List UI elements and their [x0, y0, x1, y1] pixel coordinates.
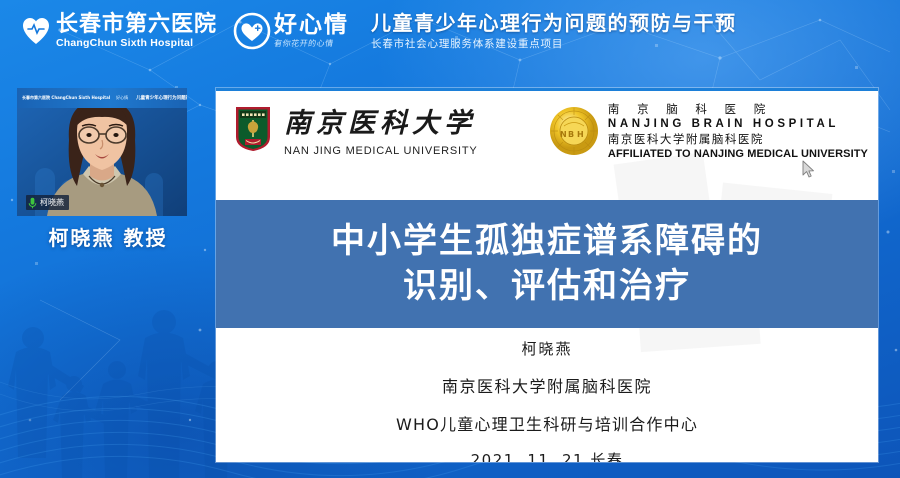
heart-apple-cross-icon	[233, 12, 271, 50]
svg-text:H: H	[577, 130, 584, 139]
nbh-line1: 南 京 脑 科 医 院	[608, 101, 868, 117]
svg-text:N: N	[560, 130, 567, 139]
credit-date-place: 2021. 11. 21 长春	[471, 449, 624, 462]
njmu-name-cn: 南京医科大学	[284, 101, 478, 140]
presentation-slide[interactable]: 南京医科大学 NAN JING MEDICAL UNIVERSITY	[216, 88, 878, 462]
mic-name-badge: 柯晓燕	[26, 195, 69, 210]
video-overlay-logo1: 长春市第六医院 ChangChun Sixth Hospital	[22, 95, 110, 101]
header-title-block: 儿童青少年心理行为问题的预防与干预 长春市社会心理服务体系建设重点项目	[371, 13, 737, 50]
changchun-hospital-name-cn: 长春市第六医院	[56, 14, 217, 36]
credit-presenter: 柯晓燕	[521, 338, 572, 359]
nbh-line4: AFFILIATED TO NANJING MEDICAL UNIVERSITY	[608, 148, 868, 160]
slide-credits: 柯晓燕 南京医科大学附属脑科医院 WHO儿童心理卫生科研与培训合作中心 2021…	[216, 338, 878, 462]
brain-hospital-seal-icon: NBH	[549, 106, 599, 156]
slide-title-band: 中小学生孤独症谱系障碍的 识别、评估和治疗	[216, 200, 878, 328]
mouse-pointer-icon	[802, 160, 815, 178]
nbh-line2: NANJING BRAIN HOSPITAL	[608, 118, 868, 130]
header-subtitle: 长春市社会心理服务体系建设重点项目	[371, 39, 737, 50]
header-title: 儿童青少年心理行为问题的预防与干预	[371, 13, 737, 33]
speaker-panel: 长春市第六医院 ChangChun Sixth Hospital 好心情 儿童青…	[0, 62, 216, 478]
speaker-name-label: 柯晓燕 教授	[0, 222, 216, 251]
credit-center: WHO儿童心理卫生科研与培训合作中心	[396, 411, 698, 435]
credit-affiliation: 南京医科大学附属脑科医院	[442, 373, 652, 397]
nbh-line3: 南京医科大学附属脑科医院	[608, 131, 868, 147]
speaker-video-feed[interactable]: 长春市第六医院 ChangChun Sixth Hospital 好心情 儿童青…	[17, 88, 187, 216]
haoxinqing-logo: 好心情 有你花开的心情	[233, 12, 349, 50]
mic-badge-name: 柯晓燕	[40, 197, 64, 208]
heart-pulse-icon	[22, 16, 50, 46]
microphone-icon	[28, 197, 37, 209]
nbh-logo: NBH 南 京 脑 科 医 院 NANJING BRAIN HOSPITAL 南…	[549, 101, 868, 160]
haoxinqing-slogan: 有你花开的心情	[273, 40, 349, 48]
slide-title-line1: 中小学生孤独症谱系障碍的	[331, 219, 763, 264]
slide-title-line2: 识别、评估和治疗	[403, 264, 691, 309]
video-overlay-logo2: 好心情	[116, 95, 128, 101]
changchun-hospital-name-en: ChangChun Sixth Hospital	[56, 38, 217, 49]
changchun-hospital-logo: 长春市第六医院 ChangChun Sixth Hospital	[22, 14, 217, 49]
haoxinqing-name: 好心情	[274, 14, 349, 37]
slide-logo-row: 南京医科大学 NAN JING MEDICAL UNIVERSITY	[216, 91, 878, 186]
video-overlay-title: 儿童青少年心理行为问题的预防与干预	[136, 95, 187, 101]
video-overlay-header: 长春市第六医院 ChangChun Sixth Hospital 好心情 儿童青…	[17, 88, 187, 108]
page-header: 长春市第六医院 ChangChun Sixth Hospital 好心情 有你花…	[0, 0, 900, 62]
njmu-logo: 南京医科大学 NAN JING MEDICAL UNIVERSITY	[234, 101, 478, 157]
university-crest-icon	[234, 105, 272, 153]
svg-text:B: B	[568, 130, 574, 139]
njmu-name-en: NAN JING MEDICAL UNIVERSITY	[284, 145, 478, 157]
